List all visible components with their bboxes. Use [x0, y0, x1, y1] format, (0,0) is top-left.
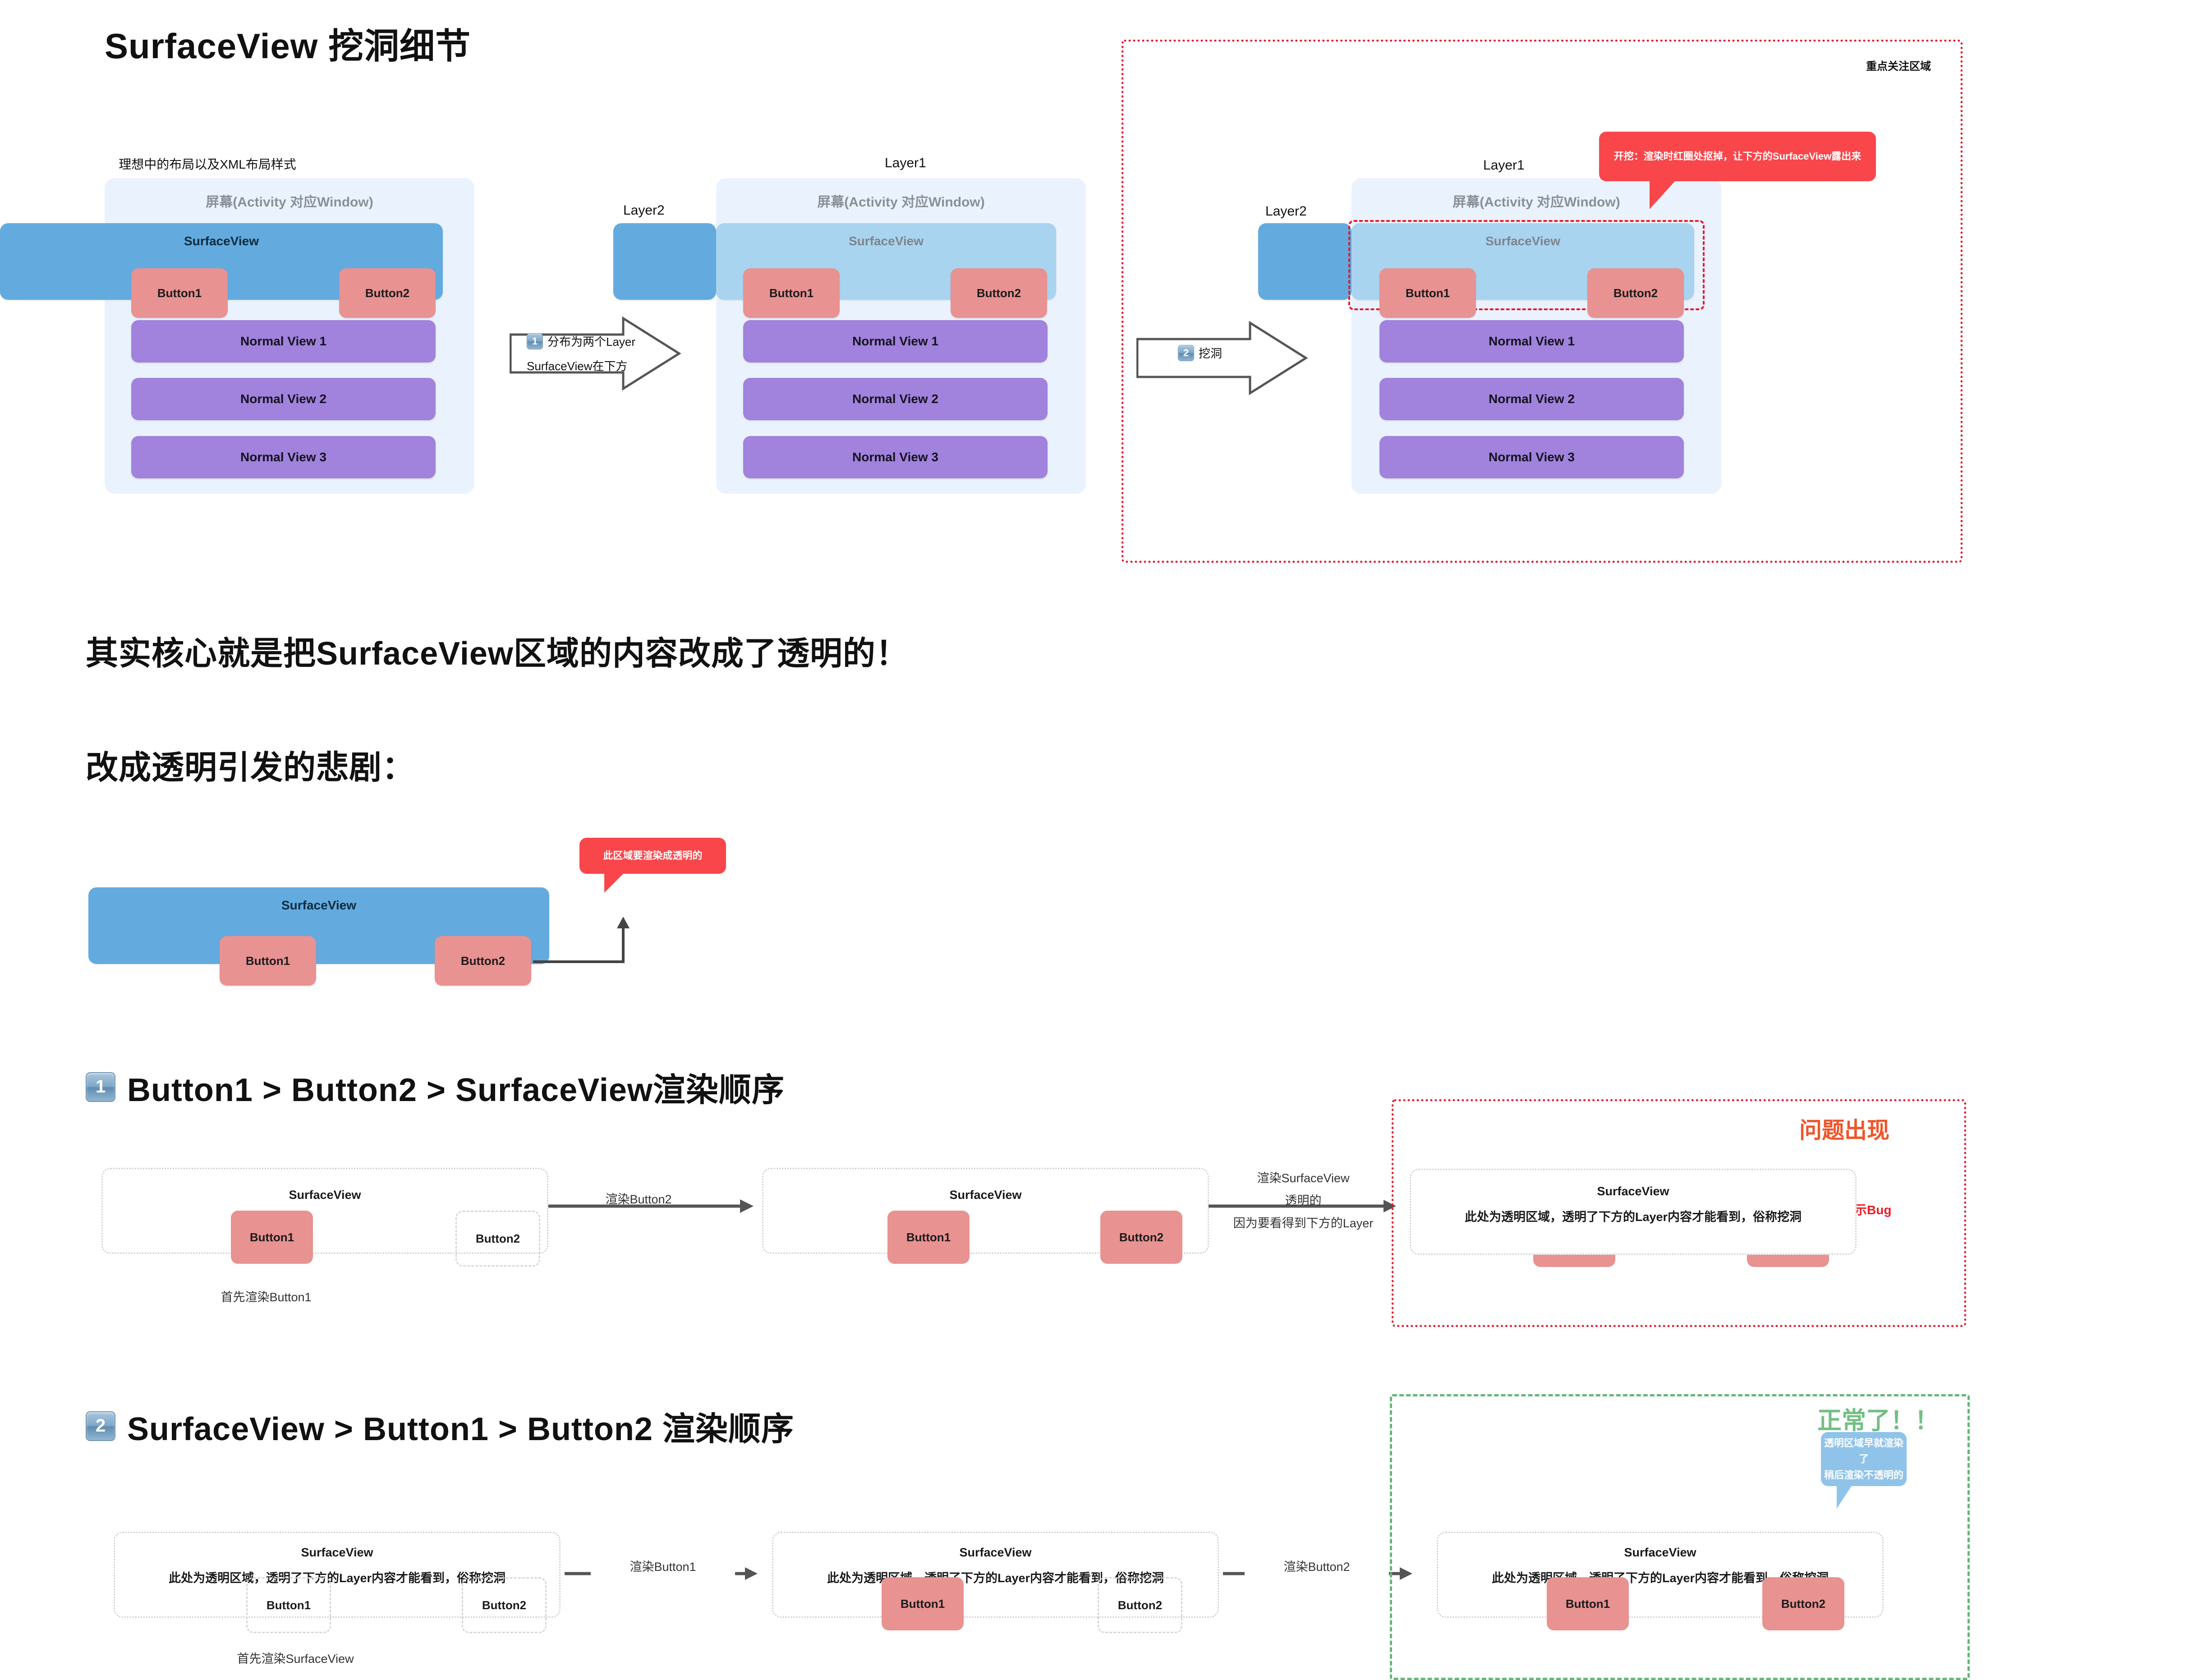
section1-number-badge: 1	[86, 1072, 115, 1102]
section1-arrow2-label-line3: 因为要看得到下方的Layer	[1218, 1213, 1389, 1234]
panel3-normalview-3: Normal View 3	[1379, 436, 1684, 478]
heading-tragedy: 改成透明引发的悲剧：	[86, 741, 415, 788]
panel1-button2[interactable]: Button2	[339, 268, 436, 318]
panel2-button1-label: Button1	[769, 286, 814, 300]
panel3-layer2-label: Layer2	[1265, 204, 1307, 219]
panel3-normalview-2-label: Normal View 2	[1489, 392, 1575, 406]
panel3-callout-text: 开挖：渲染时红圈处抠掉，让下方的SurfaceView露出来	[1614, 147, 1861, 166]
section1-step1-button1[interactable]: Button1	[231, 1211, 313, 1264]
tragedy-callout-tail	[604, 873, 624, 893]
section2-step1-caption: 首先渲染SurfaceView	[205, 1649, 386, 1666]
tragedy-callout-text: 此区域要渲染成透明的	[603, 846, 702, 865]
section1-arrow1-label: 渲染Button2	[571, 1189, 706, 1210]
panel1-normalview-1: Normal View 1	[131, 320, 436, 363]
section2-step3-button2[interactable]: Button2	[1762, 1577, 1844, 1630]
section2-callout: 透明区域早就渲染了 稍后渲染不透明的	[1821, 1432, 1907, 1486]
section1-step2-button1[interactable]: Button1	[887, 1211, 970, 1264]
tragedy-button1-label: Button1	[246, 954, 290, 968]
panel2-normalview-2: Normal View 2	[743, 378, 1048, 420]
panel1-caption: 理想中的布局以及XML布局样式	[104, 155, 311, 173]
panel1-normalview-3-label: Normal View 3	[240, 450, 326, 464]
arrow-split-layers-text1: 分布为两个Layer	[547, 333, 635, 349]
panel2-button2-label: Button2	[977, 286, 1021, 300]
panel2-normalview-3-label: Normal View 3	[852, 450, 938, 464]
section2-step2-button2-label: Button2	[1118, 1598, 1162, 1612]
panel3-normalview-1-label: Normal View 1	[1489, 334, 1575, 349]
arrow-split-layers-line1: 1 分布为两个Layer	[527, 333, 635, 349]
panel2-window-title: 屏幕(Activity 对应Window)	[716, 191, 1086, 211]
panel1-normalview-3: Normal View 3	[131, 436, 436, 478]
tragedy-button2-label: Button2	[461, 954, 505, 968]
section2-callout-line2: 稍后渲染不透明的	[1824, 1467, 1903, 1483]
panel1-button1-label: Button1	[157, 286, 202, 300]
panel2-surfaceview-label: SurfaceView	[716, 234, 1056, 248]
section2-step2-button2[interactable]: Button2	[1098, 1577, 1182, 1633]
panel3-button2[interactable]: Button2	[1587, 268, 1684, 318]
section2-title: SurfaceView > Button1 > Button2 渲染顺序	[127, 1402, 794, 1450]
panel3-normalview-3-label: Normal View 3	[1489, 450, 1575, 464]
section1-step1-button2-label: Button2	[476, 1232, 520, 1246]
section1-title: Button1 > Button2 > SurfaceView渲染顺序	[127, 1063, 785, 1111]
arrow-split-layers-line2: SurfaceView在下方	[527, 357, 628, 374]
arrow-split-layers-text2: SurfaceView在下方	[527, 357, 628, 374]
section1-step1-button2[interactable]: Button2	[455, 1211, 540, 1267]
section1-step3-box: SurfaceView 此处为透明区域，透明了下方的Layer内容才能看到，俗称…	[1410, 1169, 1857, 1255]
section2-step3-title: SurfaceView	[1438, 1546, 1882, 1560]
section2-step1-button2-label: Button2	[482, 1598, 526, 1612]
panel2-normalview-3: Normal View 3	[743, 436, 1048, 478]
section2-callout-tail	[1837, 1485, 1852, 1509]
panel2-surfaceview-layer2	[613, 223, 716, 300]
tragedy-callout: 此区域要渲染成透明的	[579, 838, 726, 874]
section2-arrow1-label: 渲染Button1	[591, 1556, 735, 1578]
panel2-button1[interactable]: Button1	[743, 268, 840, 318]
panel3-normalview-1: Normal View 1	[1379, 320, 1684, 363]
step-badge-1: 1	[527, 333, 543, 349]
panel1-normalview-2: Normal View 2	[131, 378, 436, 420]
section1-arrow2-label-line2: 透明的	[1236, 1190, 1371, 1212]
section1-step1-button1-label: Button1	[250, 1230, 294, 1244]
section2-step2-title: SurfaceView	[773, 1546, 1218, 1560]
section2-heading: 2 SurfaceView > Button1 > Button2 渲染顺序	[86, 1402, 794, 1450]
panel1-window-title: 屏幕(Activity 对应Window)	[105, 191, 474, 211]
panel2-normalview-2-label: Normal View 2	[852, 392, 938, 406]
panel3-callout: 开挖：渲染时红圈处抠掉，让下方的SurfaceView露出来	[1599, 132, 1876, 181]
section1-arrow2-label-line1: 渲染SurfaceView	[1236, 1168, 1371, 1189]
section1-step2-button2[interactable]: Button2	[1100, 1211, 1182, 1264]
panel3-button2-label: Button2	[1613, 286, 1658, 300]
tragedy-button2[interactable]: Button2	[435, 936, 531, 986]
panel3-button1-label: Button1	[1406, 286, 1450, 300]
section2-arrow2-label: 渲染Button2	[1245, 1556, 1389, 1578]
panel2-normalview-1-label: Normal View 1	[852, 334, 938, 349]
section2-step1-button2[interactable]: Button2	[462, 1577, 547, 1633]
section1-step3-title: SurfaceView	[1411, 1184, 1855, 1198]
panel2-normalview-1: Normal View 1	[743, 320, 1048, 363]
section2-step2-button1-label: Button1	[901, 1597, 945, 1611]
section2-number-badge: 2	[86, 1411, 115, 1441]
section1-step2-title: SurfaceView	[763, 1188, 1208, 1202]
panel2-layer2-label: Layer2	[623, 203, 665, 218]
section2-step2-button1[interactable]: Button1	[882, 1577, 964, 1630]
panel2-layer1-label: Layer1	[885, 156, 926, 171]
section2-step1-button1-label: Button1	[267, 1598, 311, 1612]
panel3-button1[interactable]: Button1	[1379, 268, 1476, 318]
section1-step2-button2-label: Button2	[1119, 1230, 1163, 1244]
arrow-split-layers	[510, 316, 685, 392]
tragedy-button1[interactable]: Button1	[220, 936, 316, 986]
section1-step3-sub: 此处为透明区域，透明了下方的Layer内容才能看到，俗称挖洞	[1411, 1207, 1855, 1225]
section1-step1-title: SurfaceView	[103, 1188, 547, 1202]
section2-step1-button1[interactable]: Button1	[246, 1577, 331, 1633]
panel1-surfaceview-label: SurfaceView	[0, 234, 443, 248]
panel1-button1[interactable]: Button1	[131, 268, 228, 318]
page-title: SurfaceView 挖洞细节	[105, 18, 471, 69]
section2-step3-button1-label: Button1	[1566, 1597, 1610, 1611]
section2-callout-line1: 透明区域早就渲染了	[1821, 1435, 1907, 1467]
panel3-normalview-2: Normal View 2	[1379, 378, 1684, 420]
tragedy-surfaceview-label: SurfaceView	[88, 898, 549, 913]
panel3-layer1-label: Layer1	[1483, 158, 1525, 173]
heading-core: 其实核心就是把SurfaceView区域的内容改成了透明的！	[86, 627, 909, 674]
section1-step1-caption: 首先渲染Button1	[189, 1287, 343, 1305]
panel1-normalview-2-label: Normal View 2	[240, 392, 326, 406]
panel1-button2-label: Button2	[365, 286, 409, 300]
panel3-surfaceview-layer2	[1258, 223, 1351, 300]
panel1-normalview-1-label: Normal View 1	[240, 334, 326, 349]
section2-step1-title: SurfaceView	[115, 1546, 559, 1560]
section1-step2-button1-label: Button1	[906, 1230, 951, 1244]
section1-problem-title: 问题出现	[1799, 1112, 1889, 1145]
section1-heading: 1 Button1 > Button2 > SurfaceView渲染顺序	[86, 1063, 785, 1111]
panel2-button2[interactable]: Button2	[951, 268, 1047, 318]
section2-ok-title: 正常了！！	[1817, 1400, 1939, 1436]
focus-region-label: 重点关注区域	[1866, 57, 1931, 73]
panel3-callout-tail	[1650, 180, 1676, 209]
section2-step3-button2-label: Button2	[1781, 1597, 1825, 1611]
section2-step3-button1[interactable]: Button1	[1547, 1577, 1629, 1630]
